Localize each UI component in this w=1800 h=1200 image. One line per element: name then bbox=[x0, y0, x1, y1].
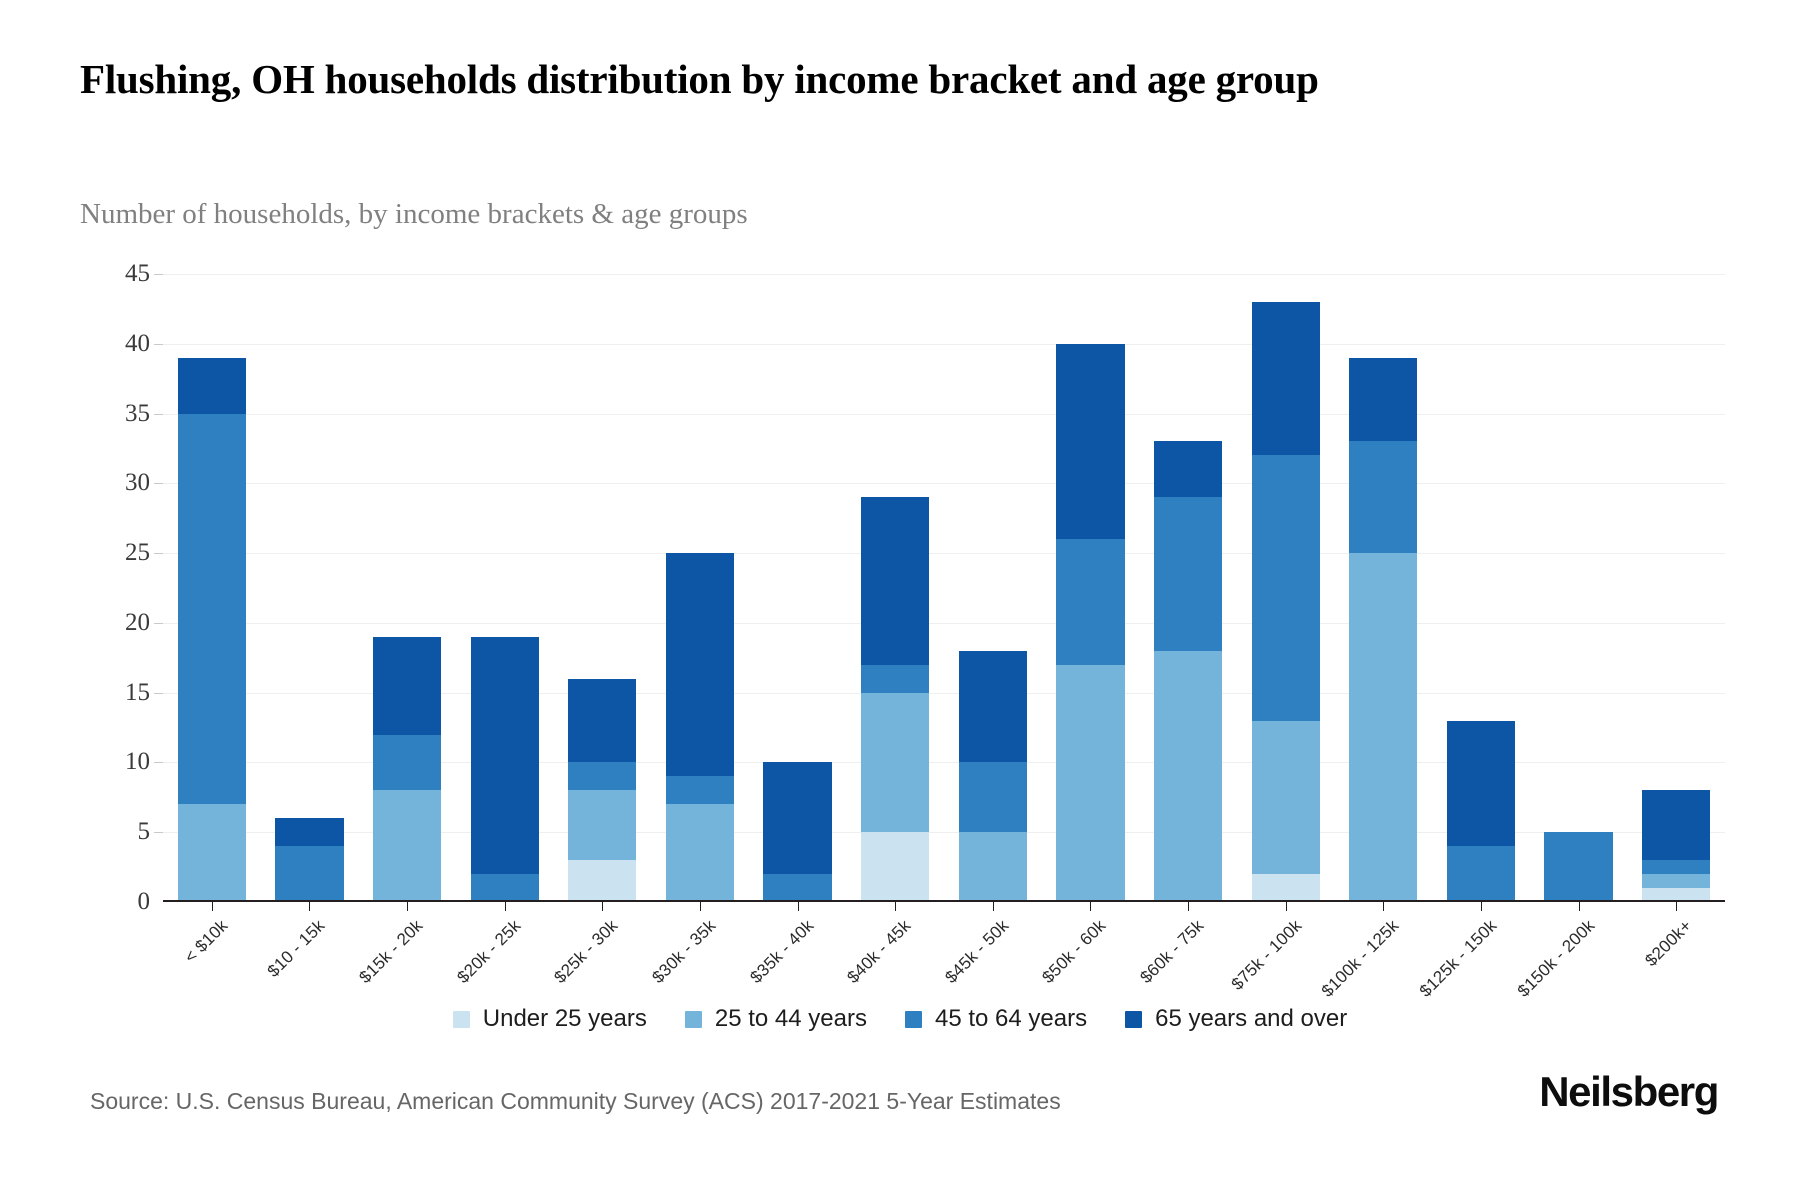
bar-stack[interactable] bbox=[1349, 274, 1417, 902]
bar-segment[interactable] bbox=[1349, 358, 1417, 442]
bar-segment[interactable] bbox=[471, 874, 539, 902]
bar-segment[interactable] bbox=[568, 790, 636, 860]
y-axis-tick-label: 0 bbox=[90, 888, 150, 916]
x-tick-mark bbox=[1383, 902, 1384, 911]
bar-stack[interactable] bbox=[568, 274, 636, 902]
x-tick-mark bbox=[700, 902, 701, 911]
bar-segment[interactable] bbox=[1642, 860, 1710, 874]
y-axis-tick-label: 35 bbox=[90, 400, 150, 428]
x-axis-tick-label: $100k - 125k bbox=[1318, 916, 1403, 1001]
bar-segment[interactable] bbox=[959, 832, 1027, 902]
legend-item[interactable]: 25 to 44 years bbox=[685, 1005, 867, 1033]
y-tick-mark bbox=[154, 344, 163, 345]
x-tick-mark bbox=[505, 902, 506, 911]
x-axis-tick-label: $15k - 20k bbox=[356, 916, 428, 988]
x-axis-tick-label: $75k - 100k bbox=[1227, 916, 1306, 995]
x-tick-mark bbox=[1188, 902, 1189, 911]
x-tick-mark bbox=[993, 902, 994, 911]
bar-segment[interactable] bbox=[568, 679, 636, 763]
bar-segment[interactable] bbox=[1447, 721, 1515, 847]
bar-stack[interactable] bbox=[666, 274, 734, 902]
x-axis-tick-label: $50k - 60k bbox=[1039, 916, 1111, 988]
y-axis-tick-label: 40 bbox=[90, 330, 150, 358]
x-axis-tick-label: $25k - 30k bbox=[551, 916, 623, 988]
bar-segment[interactable] bbox=[959, 762, 1027, 832]
bar-segment[interactable] bbox=[861, 497, 929, 664]
y-axis-tick-label: 15 bbox=[90, 679, 150, 707]
bar-segment[interactable] bbox=[1544, 832, 1612, 902]
x-tick-mark bbox=[1676, 902, 1677, 911]
y-axis-tick-label: 10 bbox=[90, 748, 150, 776]
x-axis-tick-label: $60k - 75k bbox=[1137, 916, 1209, 988]
bar-segment[interactable] bbox=[861, 665, 929, 693]
x-axis-tick-label: $150k - 200k bbox=[1513, 916, 1598, 1001]
y-axis-tick-label: 20 bbox=[90, 609, 150, 637]
legend-swatch-icon bbox=[905, 1011, 922, 1028]
y-axis-tick-label: 5 bbox=[90, 818, 150, 846]
bar-stack[interactable] bbox=[1252, 274, 1320, 902]
bar-segment[interactable] bbox=[568, 762, 636, 790]
x-tick-mark bbox=[1286, 902, 1287, 911]
bar-stack[interactable] bbox=[1447, 274, 1515, 902]
x-tick-mark bbox=[309, 902, 310, 911]
bar-segment[interactable] bbox=[178, 414, 246, 805]
bar-stack[interactable] bbox=[959, 274, 1027, 902]
bar-segment[interactable] bbox=[568, 860, 636, 902]
bar-segment[interactable] bbox=[373, 790, 441, 902]
bar-segment[interactable] bbox=[1642, 790, 1710, 860]
bar-stack[interactable] bbox=[1544, 274, 1612, 902]
x-tick-mark bbox=[1481, 902, 1482, 911]
x-tick-mark bbox=[1090, 902, 1091, 911]
x-axis-tick-label: $45k - 50k bbox=[941, 916, 1013, 988]
legend-item[interactable]: Under 25 years bbox=[453, 1005, 647, 1033]
bar-segment[interactable] bbox=[1349, 553, 1417, 902]
y-axis-tick-label: 45 bbox=[90, 260, 150, 288]
bar-segment[interactable] bbox=[1056, 344, 1124, 539]
bar-segment[interactable] bbox=[861, 693, 929, 833]
bar-segment[interactable] bbox=[1154, 651, 1222, 902]
bar-segment[interactable] bbox=[1447, 846, 1515, 902]
bar-stack[interactable] bbox=[1056, 274, 1124, 902]
y-tick-mark bbox=[154, 274, 163, 275]
y-tick-mark bbox=[154, 414, 163, 415]
bar-segment[interactable] bbox=[666, 804, 734, 902]
bar-segment[interactable] bbox=[1252, 721, 1320, 875]
legend-label: 25 to 44 years bbox=[715, 1005, 867, 1033]
x-axis-tick-label: $10 - 15k bbox=[264, 916, 330, 982]
bar-segment[interactable] bbox=[666, 553, 734, 776]
x-tick-mark bbox=[602, 902, 603, 911]
legend-item[interactable]: 65 years and over bbox=[1125, 1005, 1347, 1033]
x-axis-tick-label: $40k - 45k bbox=[844, 916, 916, 988]
chart-page: Flushing, OH households distribution by … bbox=[0, 0, 1800, 1200]
y-tick-mark bbox=[154, 832, 163, 833]
x-axis-tick-label: $35k - 40k bbox=[746, 916, 818, 988]
y-axis-tick-label: 30 bbox=[90, 469, 150, 497]
legend-label: Under 25 years bbox=[483, 1005, 647, 1033]
x-tick-mark bbox=[895, 902, 896, 911]
bar-segment[interactable] bbox=[1056, 539, 1124, 665]
legend-swatch-icon bbox=[453, 1011, 470, 1028]
bar-stack[interactable] bbox=[471, 274, 539, 902]
page-subtitle: Number of households, by income brackets… bbox=[80, 198, 748, 231]
x-axis-tick-label: $125k - 150k bbox=[1416, 916, 1501, 1001]
bar-stack[interactable] bbox=[1154, 274, 1222, 902]
page-title: Flushing, OH households distribution by … bbox=[80, 52, 1610, 106]
bar-stack[interactable] bbox=[178, 274, 246, 902]
bar-segment[interactable] bbox=[178, 358, 246, 414]
plot-area: < $10k$10 - 15k$15k - 20k$20k - 25k$25k … bbox=[163, 274, 1725, 902]
y-tick-mark bbox=[154, 693, 163, 694]
x-axis-line bbox=[163, 900, 1725, 902]
bar-segment[interactable] bbox=[1349, 441, 1417, 553]
bar-segment[interactable] bbox=[763, 874, 831, 902]
y-tick-mark bbox=[154, 623, 163, 624]
bar-segment[interactable] bbox=[1252, 455, 1320, 720]
bar-segment[interactable] bbox=[1252, 302, 1320, 456]
bar-segment[interactable] bbox=[1056, 665, 1124, 902]
x-tick-mark bbox=[212, 902, 213, 911]
bar-segment[interactable] bbox=[1642, 874, 1710, 888]
bar-segment[interactable] bbox=[861, 832, 929, 902]
y-tick-mark bbox=[154, 553, 163, 554]
y-tick-mark bbox=[154, 762, 163, 763]
bar-stack[interactable] bbox=[373, 274, 441, 902]
bar-segment[interactable] bbox=[1154, 497, 1222, 651]
y-axis-tick-label: 25 bbox=[90, 539, 150, 567]
x-axis-tick-label: $30k - 35k bbox=[648, 916, 720, 988]
source-note: Source: U.S. Census Bureau, American Com… bbox=[90, 1088, 1061, 1115]
bar-segment[interactable] bbox=[1154, 441, 1222, 497]
bar-segment[interactable] bbox=[373, 735, 441, 791]
x-tick-mark bbox=[1579, 902, 1580, 911]
legend-label: 45 to 64 years bbox=[935, 1005, 1087, 1033]
legend-swatch-icon bbox=[1125, 1011, 1142, 1028]
bar-stack[interactable] bbox=[861, 274, 929, 902]
bar-segment[interactable] bbox=[1252, 874, 1320, 902]
bar-segment[interactable] bbox=[959, 651, 1027, 763]
legend-swatch-icon bbox=[685, 1011, 702, 1028]
legend: Under 25 years25 to 44 years45 to 64 yea… bbox=[0, 1005, 1800, 1033]
x-tick-mark bbox=[798, 902, 799, 911]
brand-logo: Neilsberg bbox=[1539, 1068, 1718, 1116]
legend-label: 65 years and over bbox=[1155, 1005, 1347, 1033]
bar-stack[interactable] bbox=[275, 274, 343, 902]
x-axis-tick-label: < $10k bbox=[181, 916, 232, 967]
bar-segment[interactable] bbox=[763, 762, 831, 874]
x-axis-tick-label: $20k - 25k bbox=[453, 916, 525, 988]
bar-segment[interactable] bbox=[275, 846, 343, 902]
x-axis-tick-label: $200k+ bbox=[1642, 916, 1697, 971]
x-tick-mark bbox=[407, 902, 408, 911]
bar-segment[interactable] bbox=[471, 637, 539, 874]
y-tick-mark bbox=[154, 483, 163, 484]
bar-segment[interactable] bbox=[373, 637, 441, 735]
bar-segment[interactable] bbox=[275, 818, 343, 846]
bar-stack[interactable] bbox=[1642, 274, 1710, 902]
bar-segment[interactable] bbox=[178, 804, 246, 902]
legend-item[interactable]: 45 to 64 years bbox=[905, 1005, 1087, 1033]
bar-segment[interactable] bbox=[666, 776, 734, 804]
bar-stack[interactable] bbox=[763, 274, 831, 902]
